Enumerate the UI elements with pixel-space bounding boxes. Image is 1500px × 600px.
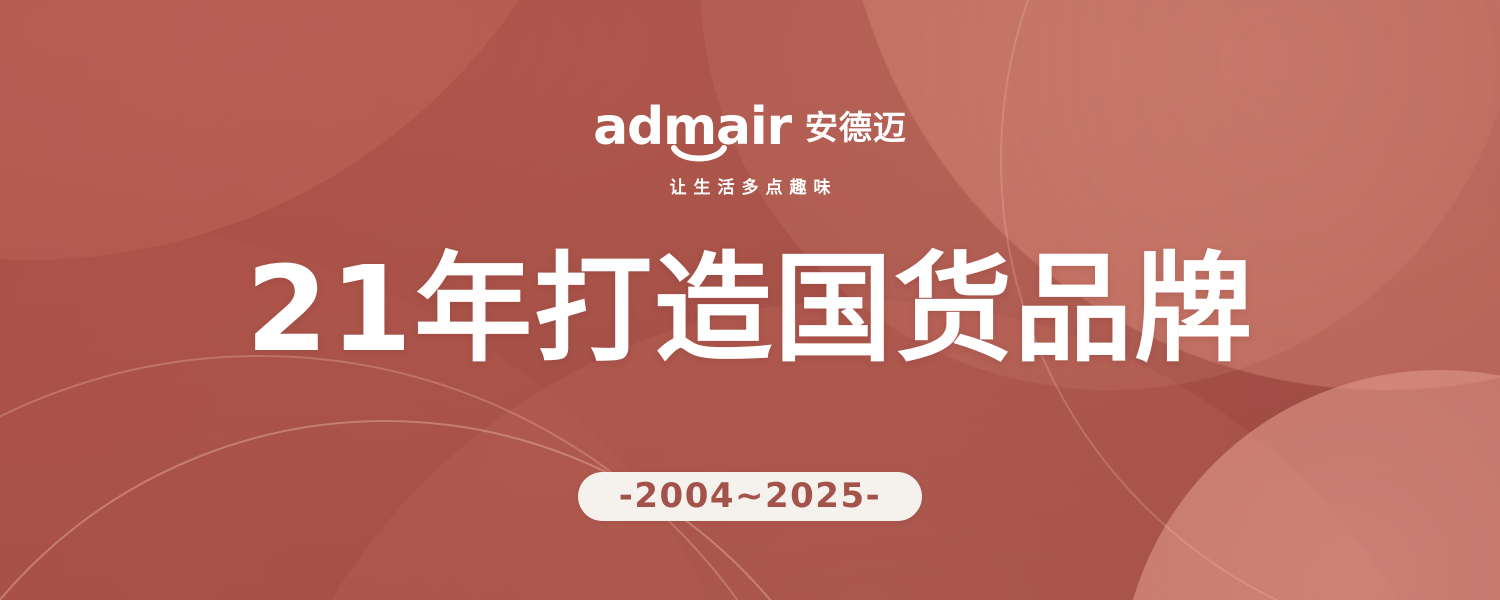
headline: 21年打造国货品牌 <box>246 248 1254 371</box>
year-range-badge: -2004~2025- <box>578 472 922 521</box>
brand-wordmark: admair <box>593 101 791 153</box>
brand-tagline: 让生活多点趣味 <box>663 180 838 197</box>
brand-wordmark-cn: 安德迈 <box>805 111 907 144</box>
brand-logo: admair 安德迈 <box>593 101 907 153</box>
smile-curve-icon <box>671 145 727 165</box>
banner-content: admair 安德迈 让生活多点趣味 21年打造国货品牌 -2004~2025- <box>0 0 1500 600</box>
promo-banner: admair 安德迈 让生活多点趣味 21年打造国货品牌 -2004~2025- <box>0 0 1500 600</box>
